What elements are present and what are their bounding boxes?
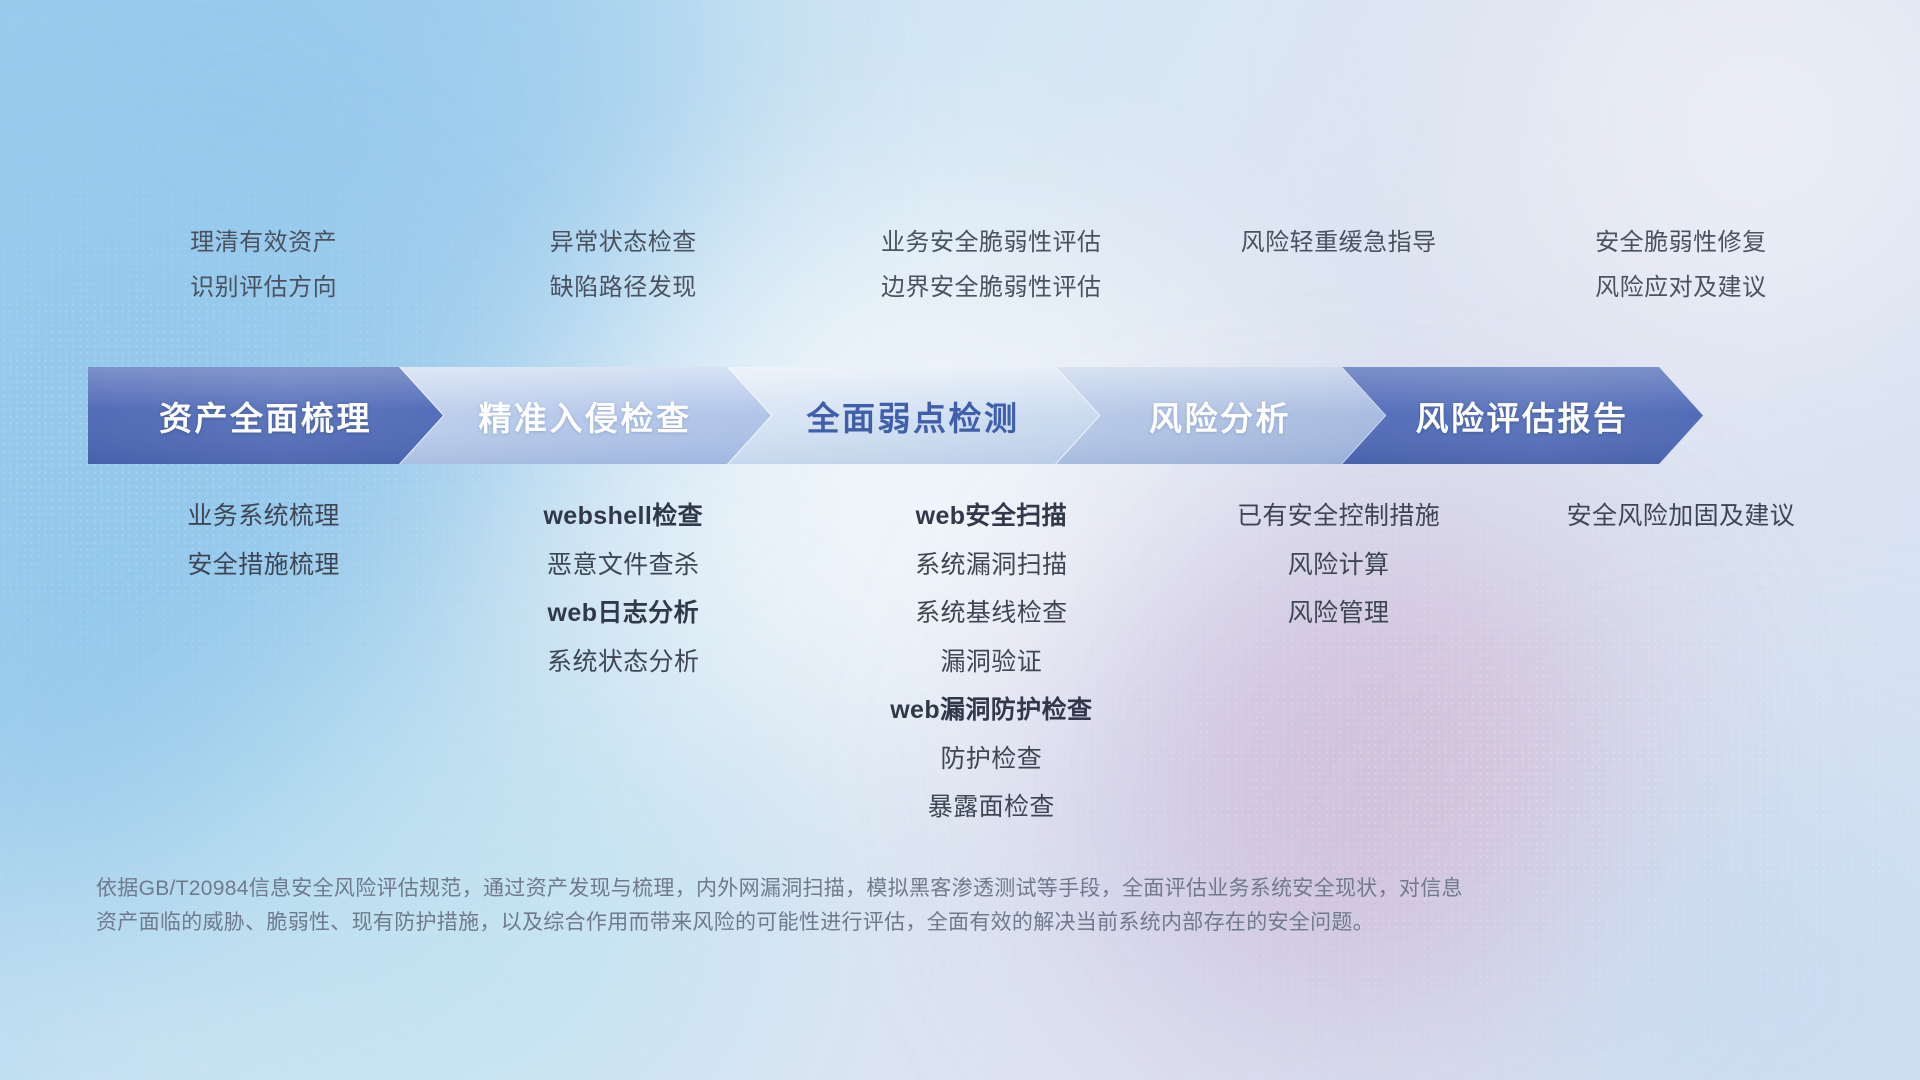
captions-risk-analysis: 风险轻重缓急指导 (1175, 228, 1502, 303)
arrow-stage-weakness-detection[interactable]: 全面弱点检测 (727, 367, 1099, 464)
arrow-stage-risk-report[interactable]: 风险评估报告 (1341, 367, 1703, 464)
list-item: 系统漏洞扫描 (915, 549, 1067, 582)
caption-text: 缺陷路径发现 (550, 273, 697, 304)
caption-text: 风险轻重缓急指导 (1241, 228, 1437, 259)
list-item: web日志分析 (548, 597, 699, 630)
footer-description: 依据GB/T20984信息安全风险评估规范，通过资产发现与梳理，内外网漏洞扫描，… (96, 872, 1656, 940)
caption-text: 识别评估方向 (190, 273, 337, 304)
list-item: 业务系统梳理 (187, 500, 339, 533)
list-item: 恶意文件查杀 (547, 549, 699, 582)
list-item: 系统基线检查 (915, 597, 1067, 630)
arrow-stage-label: 精准入侵检查 (479, 392, 692, 440)
stage-captions-row: 理清有效资产 识别评估方向 异常状态检查 缺陷路径发现 业务安全脆弱性评估 边界… (88, 228, 1860, 303)
list-item: 防护检查 (941, 743, 1043, 776)
list-item: 漏洞验证 (941, 646, 1043, 679)
list-item: 风险计算 (1288, 549, 1390, 582)
caption-text: 边界安全脆弱性评估 (881, 273, 1102, 304)
list-item: 系统状态分析 (547, 646, 699, 679)
list-item: 暴露面检查 (928, 791, 1055, 824)
list-item: web漏洞防护检查 (890, 694, 1092, 727)
details-intrusion-check: webshell检查 恶意文件查杀 web日志分析 系统状态分析 (439, 500, 807, 824)
captions-intrusion-check: 异常状态检查 缺陷路径发现 (439, 228, 807, 303)
arrow-stage-asset-inventory[interactable]: 资产全面梳理 (88, 367, 443, 464)
list-item: 风险管理 (1288, 597, 1390, 630)
caption-text: 异常状态检查 (550, 228, 697, 259)
list-item: 安全措施梳理 (187, 549, 339, 582)
process-arrow-band: 资产全面梳理 (88, 367, 1858, 464)
details-weakness-detection: web安全扫描 系统漏洞扫描 系统基线检查 漏洞验证 web漏洞防护检查 防护检… (807, 500, 1175, 824)
captions-risk-report: 安全脆弱性修复 风险应对及建议 (1502, 228, 1860, 303)
arrow-stage-label: 资产全面梳理 (159, 392, 372, 440)
list-item: webshell检查 (543, 500, 703, 533)
caption-text: 风险应对及建议 (1595, 273, 1767, 304)
list-item: 已有安全控制措施 (1237, 500, 1440, 533)
details-risk-report: 安全风险加固及建议 (1502, 500, 1860, 824)
caption-text: 理清有效资产 (190, 228, 337, 259)
caption-text: 安全脆弱性修复 (1595, 228, 1767, 259)
arrow-stage-intrusion-check[interactable]: 精准入侵检查 (399, 367, 771, 464)
arrow-stage-risk-analysis[interactable]: 风险分析 (1055, 367, 1385, 464)
footer-line: 资产面临的威胁、脆弱性、现有防护措施，以及综合作用而带来风险的可能性进行评估，全… (96, 906, 1656, 940)
footer-line: 依据GB/T20984信息安全风险评估规范，通过资产发现与梳理，内外网漏洞扫描，… (96, 872, 1656, 906)
arrow-stage-label: 风险评估报告 (1416, 392, 1629, 440)
captions-asset-inventory: 理清有效资产 识别评估方向 (88, 228, 439, 303)
list-item: web安全扫描 (916, 500, 1067, 533)
arrow-stage-label: 全面弱点检测 (807, 392, 1020, 440)
arrow-stage-label: 风险分析 (1149, 392, 1291, 440)
captions-weakness-detection: 业务安全脆弱性评估 边界安全脆弱性评估 (807, 228, 1175, 303)
stage-details-row: 业务系统梳理 安全措施梳理 webshell检查 恶意文件查杀 web日志分析 … (88, 500, 1860, 824)
details-asset-inventory: 业务系统梳理 安全措施梳理 (88, 500, 439, 824)
list-item: 安全风险加固及建议 (1567, 500, 1796, 533)
caption-text: 业务安全脆弱性评估 (881, 228, 1102, 259)
details-risk-analysis: 已有安全控制措施 风险计算 风险管理 (1175, 500, 1502, 824)
process-flow-diagram: 理清有效资产 识别评估方向 异常状态检查 缺陷路径发现 业务安全脆弱性评估 边界… (0, 0, 1920, 1080)
